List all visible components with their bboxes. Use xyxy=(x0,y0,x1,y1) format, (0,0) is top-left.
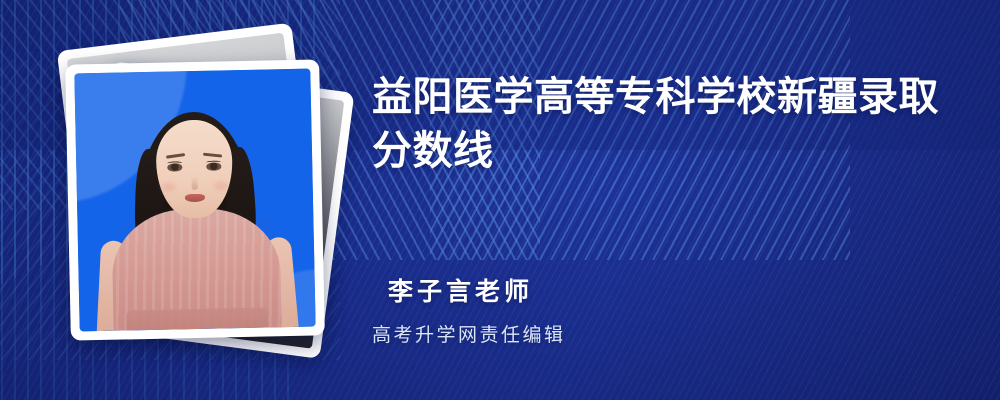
portrait-dress xyxy=(111,207,282,331)
photo-card-front-surface xyxy=(74,69,315,332)
portrait-eye-left xyxy=(167,163,182,171)
portrait-cheek-right xyxy=(214,181,228,190)
portrait-dress-waistband xyxy=(127,307,269,331)
portrait-eyebrow-left xyxy=(166,153,185,159)
author-role: 高考升学网责任编辑 xyxy=(372,320,566,347)
article-header-banner: 益阳医学高等专科学校新疆录取分数线 李子言老师 高考升学网责任编辑 xyxy=(0,0,1000,400)
page-title: 益阳医学高等专科学校新疆录取分数线 xyxy=(372,70,958,178)
portrait-eyebrow-right xyxy=(203,153,222,158)
editor-portrait-photo xyxy=(74,69,315,332)
photo-card-stack xyxy=(46,34,346,364)
banner-text-block: 益阳医学高等专科学校新疆录取分数线 李子言老师 高考升学网责任编辑 xyxy=(372,0,982,400)
portrait-cheek-left xyxy=(162,182,176,191)
author-name: 李子言老师 xyxy=(388,272,533,308)
portrait-mouth xyxy=(185,194,205,202)
portrait-eye-right xyxy=(206,162,221,170)
photo-card-front xyxy=(65,59,325,340)
portrait-nose xyxy=(191,176,197,190)
